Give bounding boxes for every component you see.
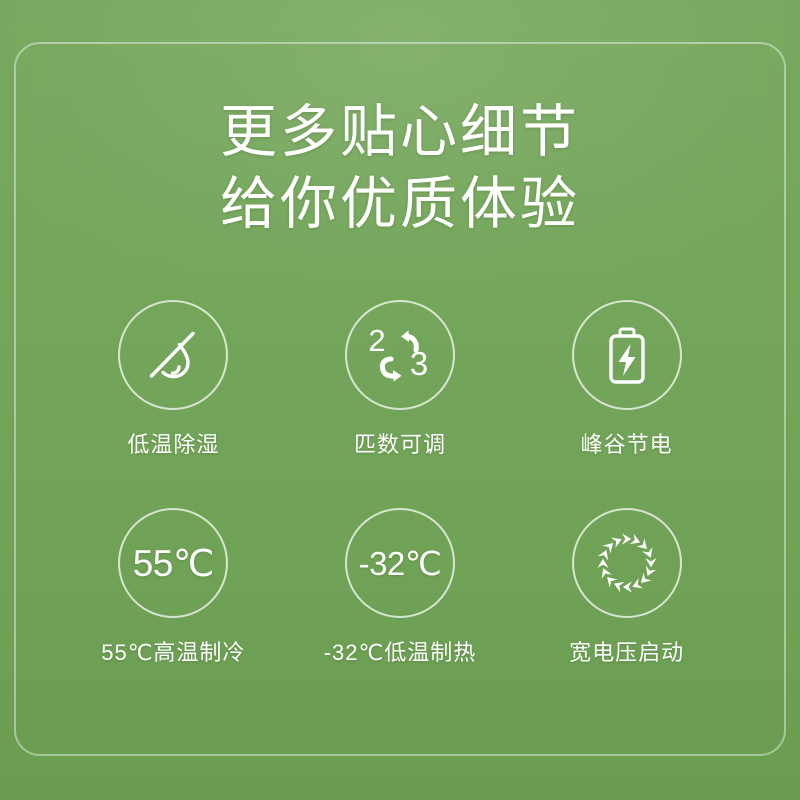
feature-item-dehumidify: 低温除湿: [60, 300, 287, 508]
feature-icon-circle: [118, 300, 228, 410]
feature-item-high-temp-cooling: 55℃ 55℃高温制冷: [60, 508, 287, 716]
capacity-value-to: 3: [410, 345, 428, 382]
feature-label: 低温除湿: [127, 432, 219, 458]
feature-item-capacity-adjustable: 2 3 匹数可调: [287, 300, 514, 508]
temperature-text-icon: 55℃: [133, 545, 214, 582]
feature-icon-circle: [572, 508, 682, 618]
feature-item-wide-voltage-start: 宽电压启动: [513, 508, 740, 716]
battery-bolt-icon: [594, 320, 660, 390]
feature-poster: 更多贴心细节 给你优质体验 低温除湿 2: [0, 0, 800, 800]
wide-voltage-arrow-ring-icon: [589, 525, 665, 601]
feature-label: -32℃低温制热: [324, 640, 477, 666]
feature-icon-circle: 2 3: [345, 300, 455, 410]
feature-item-peak-valley-saving: 峰谷节电: [513, 300, 740, 508]
feature-label: 匹数可调: [354, 432, 446, 458]
headline-line-2: 给你优质体验: [0, 168, 800, 240]
capacity-adjustable-2-3-icon: 2 3: [362, 317, 438, 393]
feature-icon-circle: 55℃: [118, 508, 228, 618]
feature-label: 峰谷节电: [581, 432, 673, 458]
headline-line-1: 更多贴心细节: [0, 96, 800, 168]
feature-grid: 低温除湿 2 3 匹数可调: [60, 300, 740, 716]
temperature-text-icon: -32℃: [359, 547, 442, 580]
page-title: 更多贴心细节 给你优质体验: [0, 96, 800, 240]
feature-item-low-temp-heating: -32℃ -32℃低温制热: [287, 508, 514, 716]
no-humidity-droplet-icon: [138, 320, 208, 390]
capacity-value-from: 2: [368, 323, 385, 358]
feature-label: 55℃高温制冷: [101, 640, 245, 666]
feature-label: 宽电压启动: [569, 640, 684, 666]
feature-icon-circle: -32℃: [345, 508, 455, 618]
feature-icon-circle: [572, 300, 682, 410]
